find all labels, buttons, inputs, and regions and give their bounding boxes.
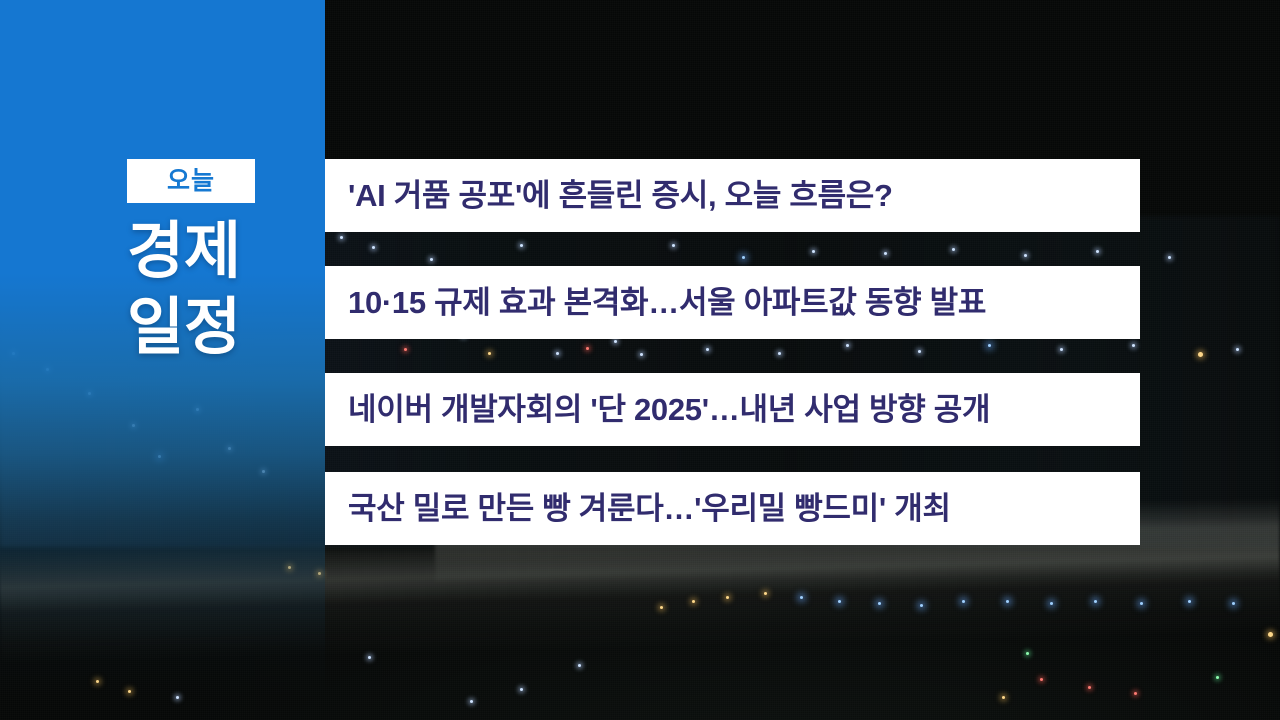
headline-item-3: 네이버 개발자회의 '단 2025'…내년 사업 방향 공개	[325, 373, 1140, 446]
today-badge: 오늘	[127, 159, 255, 203]
page-title: 경제 일정	[127, 214, 327, 366]
headline-list: 'AI 거품 공포'에 흔들린 증시, 오늘 흐름은? 10·15 규제 효과 …	[325, 0, 1140, 720]
page-title-line-2: 일정	[127, 290, 327, 366]
headline-text-3: 네이버 개발자회의 '단 2025'…내년 사업 방향 공개	[325, 394, 990, 425]
headline-text-4: 국산 밀로 만든 빵 겨룬다…'우리밀 빵드미' 개최	[325, 493, 951, 524]
broadcast-lower-third-screen: 오늘 경제 일정 'AI 거품 공포'에 흔들린 증시, 오늘 흐름은? 10·…	[0, 0, 1280, 720]
page-title-line-1: 경제	[127, 214, 327, 290]
headline-item-4: 국산 밀로 만든 빵 겨룬다…'우리밀 빵드미' 개최	[325, 472, 1140, 545]
program-branding-panel: 오늘 경제 일정	[0, 0, 325, 720]
headline-item-2: 10·15 규제 효과 본격화…서울 아파트값 동향 발표	[325, 266, 1140, 339]
headline-text-1: 'AI 거품 공포'에 흔들린 증시, 오늘 흐름은?	[325, 180, 893, 211]
headline-item-1: 'AI 거품 공포'에 흔들린 증시, 오늘 흐름은?	[325, 159, 1140, 232]
headline-text-2: 10·15 규제 효과 본격화…서울 아파트값 동향 발표	[325, 287, 986, 318]
today-badge-label: 오늘	[167, 169, 215, 194]
